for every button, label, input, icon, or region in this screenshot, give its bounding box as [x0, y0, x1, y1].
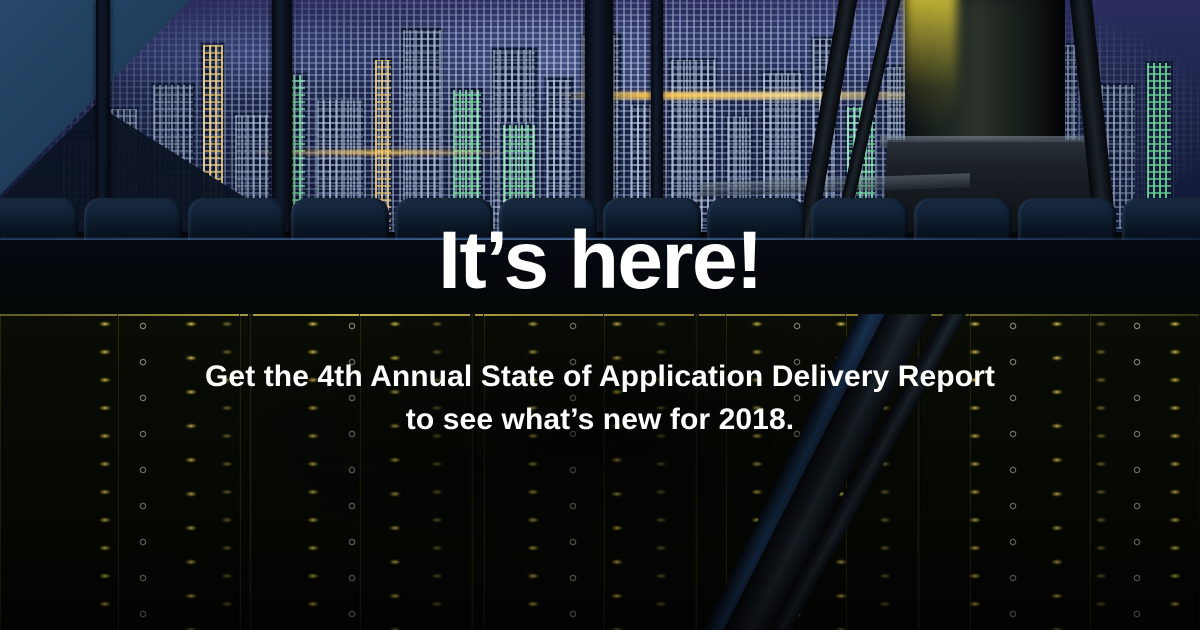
rack-column	[970, 314, 1090, 630]
server-rack-field	[0, 314, 1200, 630]
rack-led-strip	[604, 314, 630, 630]
rack-led-strip	[92, 314, 118, 630]
rack-indicator-dots	[1006, 314, 1020, 630]
rack-led-strip	[1162, 314, 1188, 630]
rack-led-strip	[424, 314, 450, 630]
rack-indicator-dots	[566, 314, 580, 630]
rack-led-strip	[382, 314, 408, 630]
pipe-edge-glow	[905, 0, 957, 130]
rack-led-strip	[1088, 314, 1114, 630]
rack-led-strip	[300, 314, 326, 630]
rack-divider	[470, 314, 475, 630]
rack-led-strip	[214, 314, 240, 630]
rack-led-strip	[648, 314, 674, 630]
rack-led-strip	[962, 314, 988, 630]
rack-indicator-dots	[345, 314, 359, 630]
rack-indicator-dots	[136, 314, 150, 630]
rack-indicator-dots	[1130, 314, 1144, 630]
rack-led-strip	[178, 314, 204, 630]
rack-divider	[694, 314, 699, 630]
dark-shelf-band	[0, 240, 1200, 318]
rack-divider	[248, 314, 253, 630]
promo-banner: It’s here! Get the 4th Annual State of A…	[0, 0, 1200, 630]
rack-column	[360, 314, 484, 630]
rack-led-strip	[520, 314, 546, 630]
rack-led-strip	[1044, 314, 1070, 630]
